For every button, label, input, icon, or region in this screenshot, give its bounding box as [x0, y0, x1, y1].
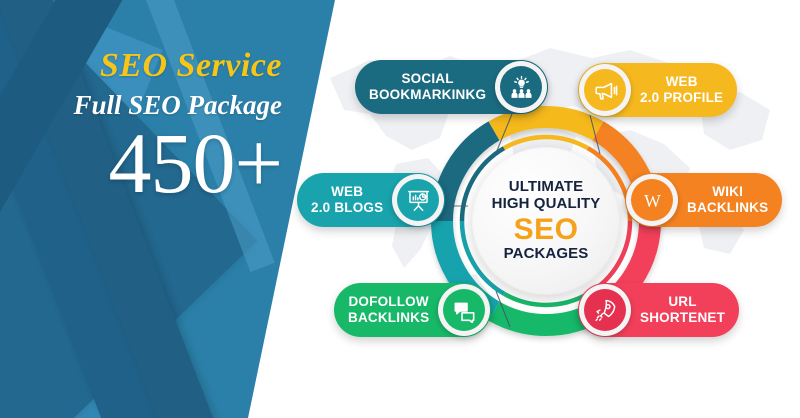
presentation-chart-icon: [397, 179, 439, 221]
promo-headline: SEO Service Full SEO Package 450+: [0, 48, 300, 204]
seo-packages-diagram: ULTIMATE HIGH QUALITY SEO PACKAGES SOCIA…: [300, 55, 800, 365]
wikipedia-w-icon: W: [631, 179, 673, 221]
badge-social-bookmarking-icon-ring: [495, 61, 547, 113]
badge-url-shortenet-icon-ring: [579, 284, 631, 336]
badge-web-2-0-blogs-label: WEB2.0 BLOGS: [311, 184, 383, 216]
badge-web-2-0-blogs[interactable]: WEB2.0 BLOGS: [297, 173, 445, 227]
seo-service-banner: SEO Service Full SEO Package 450+: [0, 0, 800, 418]
promo-amount: 450+: [0, 123, 282, 205]
badge-url-shortenet-label: URLSHORTENET: [640, 294, 725, 326]
chat-bubbles-icon: [443, 289, 485, 331]
badge-web-2-0-profile[interactable]: WEB2.0 PROFILE: [578, 63, 737, 117]
badge-dofollow-backlinks-icon-ring: [438, 284, 490, 336]
lightbulb-people-icon: [500, 66, 542, 108]
badge-wiki-backlinks[interactable]: W WIKIBACKLINKS: [625, 173, 782, 227]
center-line-2: HIGH QUALITY: [492, 196, 601, 213]
badge-web-2-0-profile-icon-ring: [579, 64, 631, 116]
promo-title: SEO Service: [0, 48, 282, 84]
badge-social-bookmarking[interactable]: SOCIALBOOKMARKINKG: [355, 60, 548, 114]
center-line-1: ULTIMATE: [509, 179, 583, 196]
badge-dofollow-backlinks-label: DOFOLLOWBACKLINKS: [348, 294, 429, 326]
center-line-4: PACKAGES: [504, 246, 589, 263]
badge-url-shortenet[interactable]: URLSHORTENET: [578, 283, 739, 337]
rocket-icon: [584, 289, 626, 331]
center-seo-highlight: SEO: [514, 214, 579, 246]
megaphone-icon: [584, 69, 626, 111]
badge-web-2-0-profile-label: WEB2.0 PROFILE: [640, 74, 723, 106]
badge-wiki-backlinks-label: WIKIBACKLINKS: [687, 184, 768, 216]
badge-web-2-0-blogs-icon-ring: [392, 174, 444, 226]
badge-wiki-backlinks-icon-ring: W: [626, 174, 678, 226]
badge-social-bookmarking-label: SOCIALBOOKMARKINKG: [369, 71, 486, 103]
center-label: ULTIMATE HIGH QUALITY SEO PACKAGES: [472, 147, 620, 295]
badge-dofollow-backlinks[interactable]: DOFOLLOWBACKLINKS: [334, 283, 491, 337]
svg-text:W: W: [644, 190, 661, 210]
